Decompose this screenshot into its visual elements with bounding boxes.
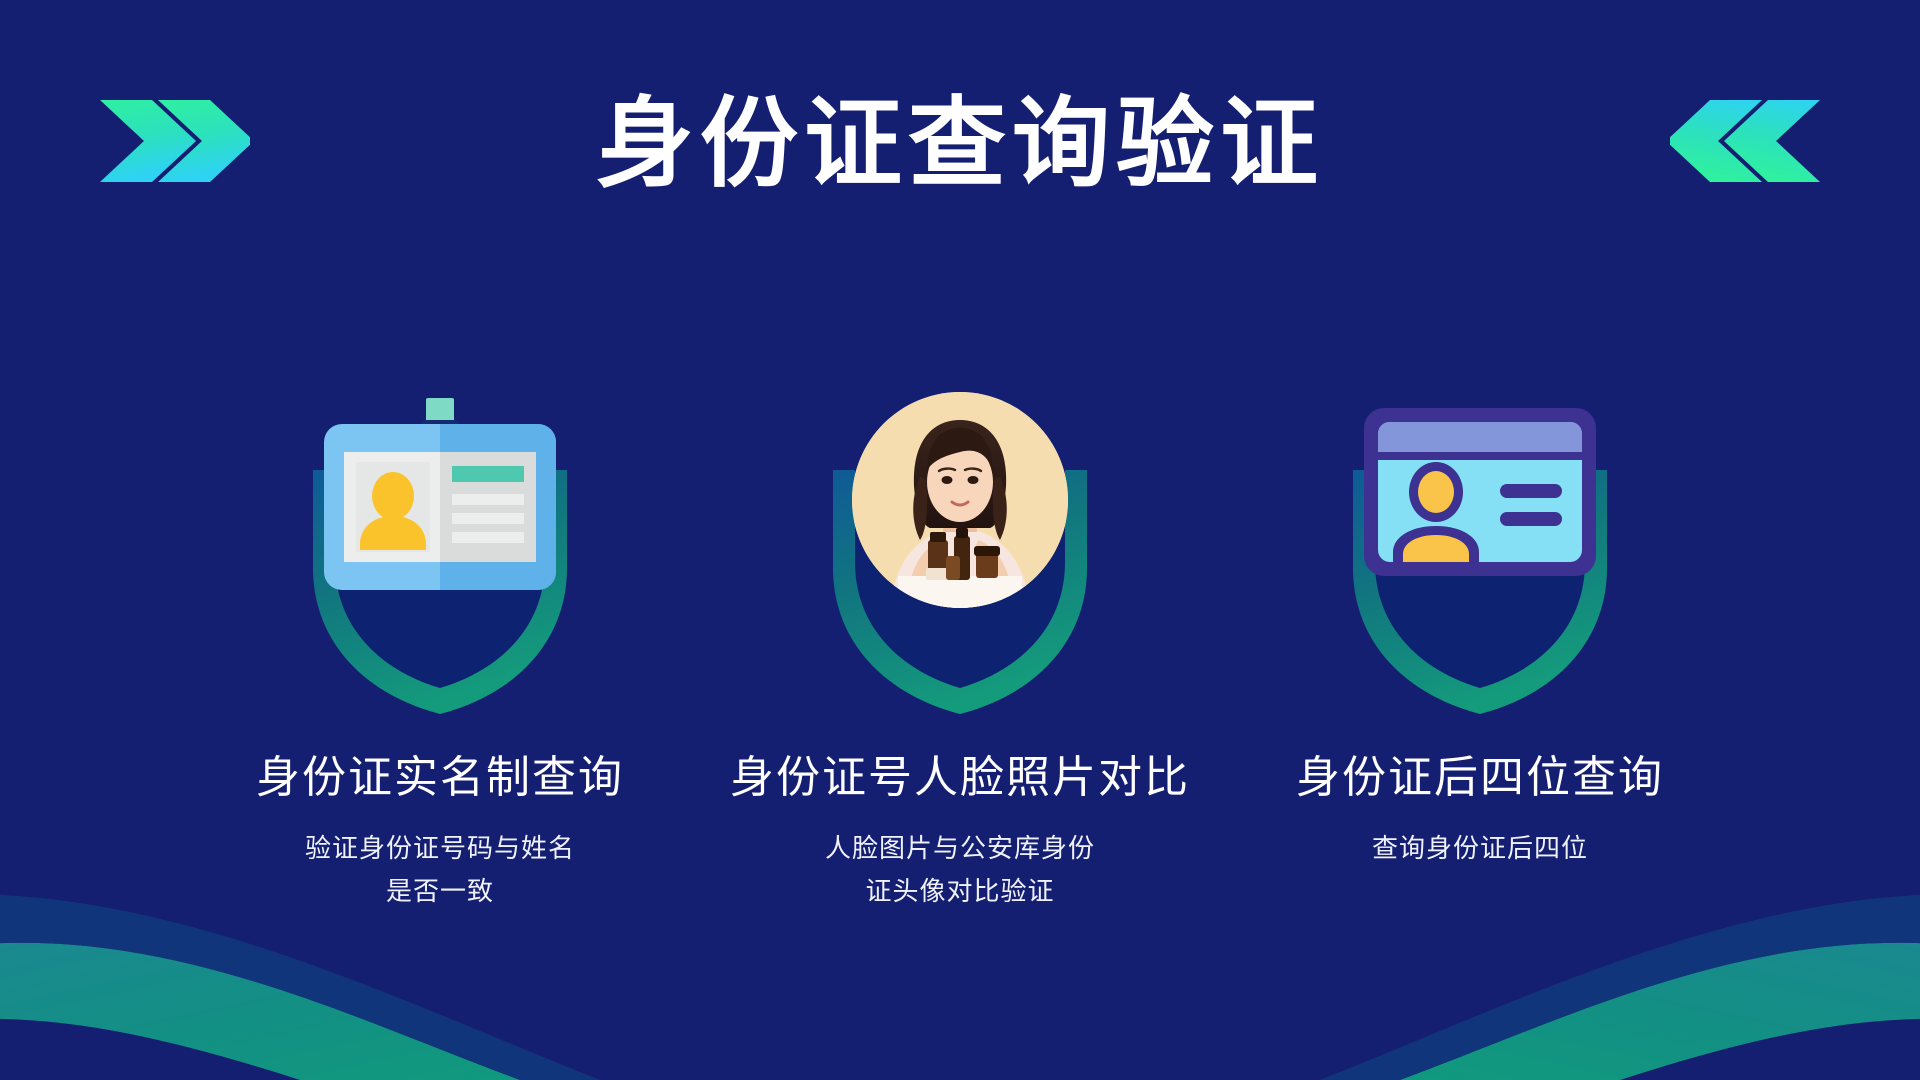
icon-badge-1: [275, 390, 605, 730]
feature-card-realname[interactable]: 身份证实名制查询 验证身份证号码与姓名 是否一致: [180, 390, 700, 913]
slide-canvas: 身份证查询验证: [0, 0, 1920, 1080]
card-desc-line: 验证身份证号码与姓名: [305, 827, 575, 870]
card-title-1: 身份证实名制查询: [256, 752, 624, 805]
feature-card-row: 身份证实名制查询 验证身份证号码与姓名 是否一致: [0, 390, 1920, 913]
card-desc-line: 人脸图片与公安库身份: [825, 827, 1095, 870]
card-desc-line: 证头像对比验证: [825, 870, 1095, 913]
header: 身份证查询验证: [0, 78, 1920, 208]
card-desc-line: 查询身份证后四位: [1372, 827, 1588, 870]
feature-card-face-compare[interactable]: 身份证号人脸照片对比 人脸图片与公安库身份 证头像对比验证: [700, 390, 1220, 913]
card-title-3: 身份证后四位查询: [1296, 752, 1664, 805]
icon-badge-2: [795, 390, 1125, 730]
card-desc-3: 查询身份证后四位: [1372, 827, 1588, 870]
page-title: 身份证查询验证: [596, 94, 1324, 192]
portrait-photo-icon: [850, 390, 1070, 610]
card-title-2: 身份证号人脸照片对比: [730, 752, 1190, 805]
id-card-outline-icon: [1360, 404, 1600, 580]
feature-card-last-four[interactable]: 身份证后四位查询 查询身份证后四位: [1220, 390, 1740, 870]
card-desc-1: 验证身份证号码与姓名 是否一致: [305, 827, 575, 913]
icon-badge-3: [1315, 390, 1645, 730]
card-desc-line: 是否一致: [305, 870, 575, 913]
id-badge-card-icon: [320, 398, 560, 598]
card-desc-2: 人脸图片与公安库身份 证头像对比验证: [825, 827, 1095, 913]
